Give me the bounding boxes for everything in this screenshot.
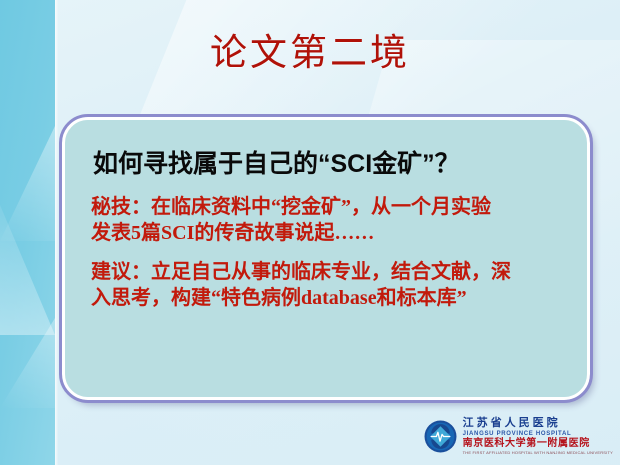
content-box: 如何寻找属于自己的“SCI金矿”？ 秘技：在临床资料中“挖金矿”，从一个月实验 … (62, 117, 590, 400)
paragraph-line: 秘技：在临床资料中“挖金矿”，从一个月实验 (91, 194, 567, 220)
hospital-affiliation-en: THE FIRST AFFILIATED HOSPITAL WITH NANJI… (463, 451, 613, 455)
paragraph-line: 发表5篇SCI的传奇故事说起…… (91, 220, 567, 246)
hospital-emblem-icon (424, 420, 457, 453)
hospital-name-en: JIANGSU PROVINCE HOSPITAL (463, 431, 613, 437)
paragraph-suggestion: 建议：立足自己从事的临床专业，结合文献，深 入思考，构建“特色病例databas… (91, 259, 567, 311)
paragraph-line: 建议：立足自己从事的临床专业，结合文献，深 (91, 259, 567, 285)
hospital-name-cn: 江苏省人民医院 (463, 418, 613, 429)
presentation-slide: 论文第二境 如何寻找属于自己的“SCI金矿”？ 秘技：在临床资料中“挖金矿”，从… (0, 0, 620, 465)
hospital-logo: 江苏省人民医院 JIANGSU PROVINCE HOSPITAL 南京医科大学… (424, 418, 613, 455)
content-heading: 如何寻找属于自己的“SCI金矿”？ (93, 144, 567, 180)
hospital-logo-text: 江苏省人民医院 JIANGSU PROVINCE HOSPITAL 南京医科大学… (463, 418, 613, 455)
slide-title: 论文第二境 (0, 22, 620, 76)
paragraph-line: 入思考，构建“特色病例database和标本库” (91, 285, 567, 311)
paragraph-secret-technique: 秘技：在临床资料中“挖金矿”，从一个月实验 发表5篇SCI的传奇故事说起…… (91, 194, 567, 246)
band-facet-one (0, 126, 55, 241)
hospital-affiliation-cn: 南京医科大学第一附属医院 (463, 439, 613, 449)
